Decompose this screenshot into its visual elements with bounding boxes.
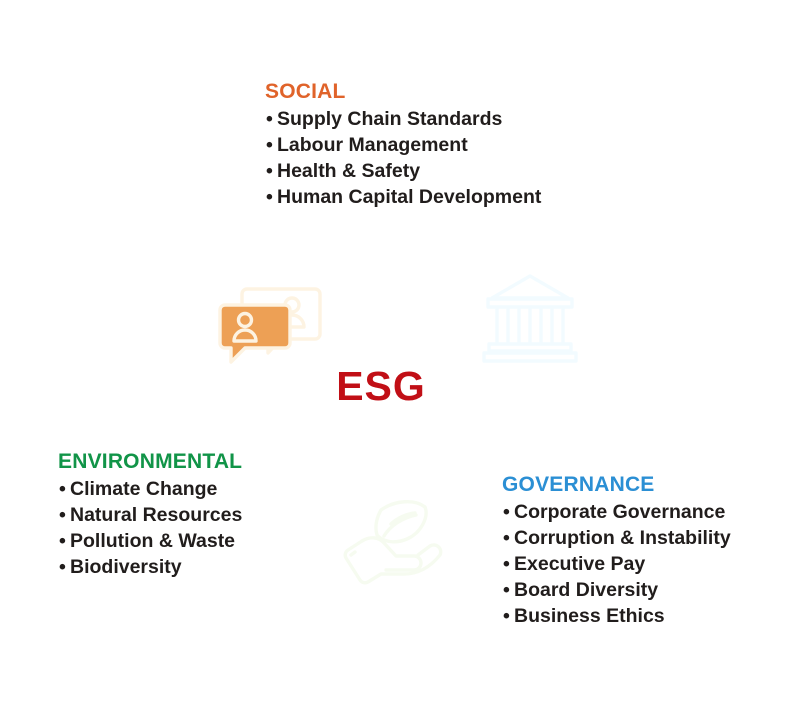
list-item: Climate Change — [58, 476, 242, 502]
governance-item-list: Corporate Governance Corruption & Instab… — [502, 499, 731, 629]
environmental-text-block: ENVIRONMENTAL Climate Change Natural Res… — [58, 450, 242, 580]
list-item: Labour Management — [265, 132, 541, 158]
esg-label-text: ESG — [336, 363, 426, 409]
social-item-list: Supply Chain Standards Labour Management… — [265, 106, 541, 210]
list-item: Business Ethics — [502, 603, 731, 629]
esg-venn-diagram: SOCIAL Supply Chain Standards Labour Man… — [0, 0, 790, 711]
social-heading: SOCIAL — [265, 80, 541, 104]
environmental-heading: ENVIRONMENTAL — [58, 450, 242, 474]
list-item: Corruption & Instability — [502, 525, 731, 551]
governance-heading: GOVERNANCE — [502, 473, 731, 497]
center-label: ESG — [0, 363, 776, 410]
list-item: Natural Resources — [58, 502, 242, 528]
governance-text-block: GOVERNANCE Corporate Governance Corrupti… — [502, 473, 731, 629]
list-item: Biodiversity — [58, 554, 242, 580]
list-item: Pollution & Waste — [58, 528, 242, 554]
list-item: Corporate Governance — [502, 499, 731, 525]
social-text-block: SOCIAL Supply Chain Standards Labour Man… — [265, 80, 541, 210]
list-item: Board Diversity — [502, 577, 731, 603]
environmental-item-list: Climate Change Natural Resources Polluti… — [58, 476, 242, 580]
list-item: Health & Safety — [265, 158, 541, 184]
list-item: Human Capital Development — [265, 184, 541, 210]
list-item: Supply Chain Standards — [265, 106, 541, 132]
list-item: Executive Pay — [502, 551, 731, 577]
